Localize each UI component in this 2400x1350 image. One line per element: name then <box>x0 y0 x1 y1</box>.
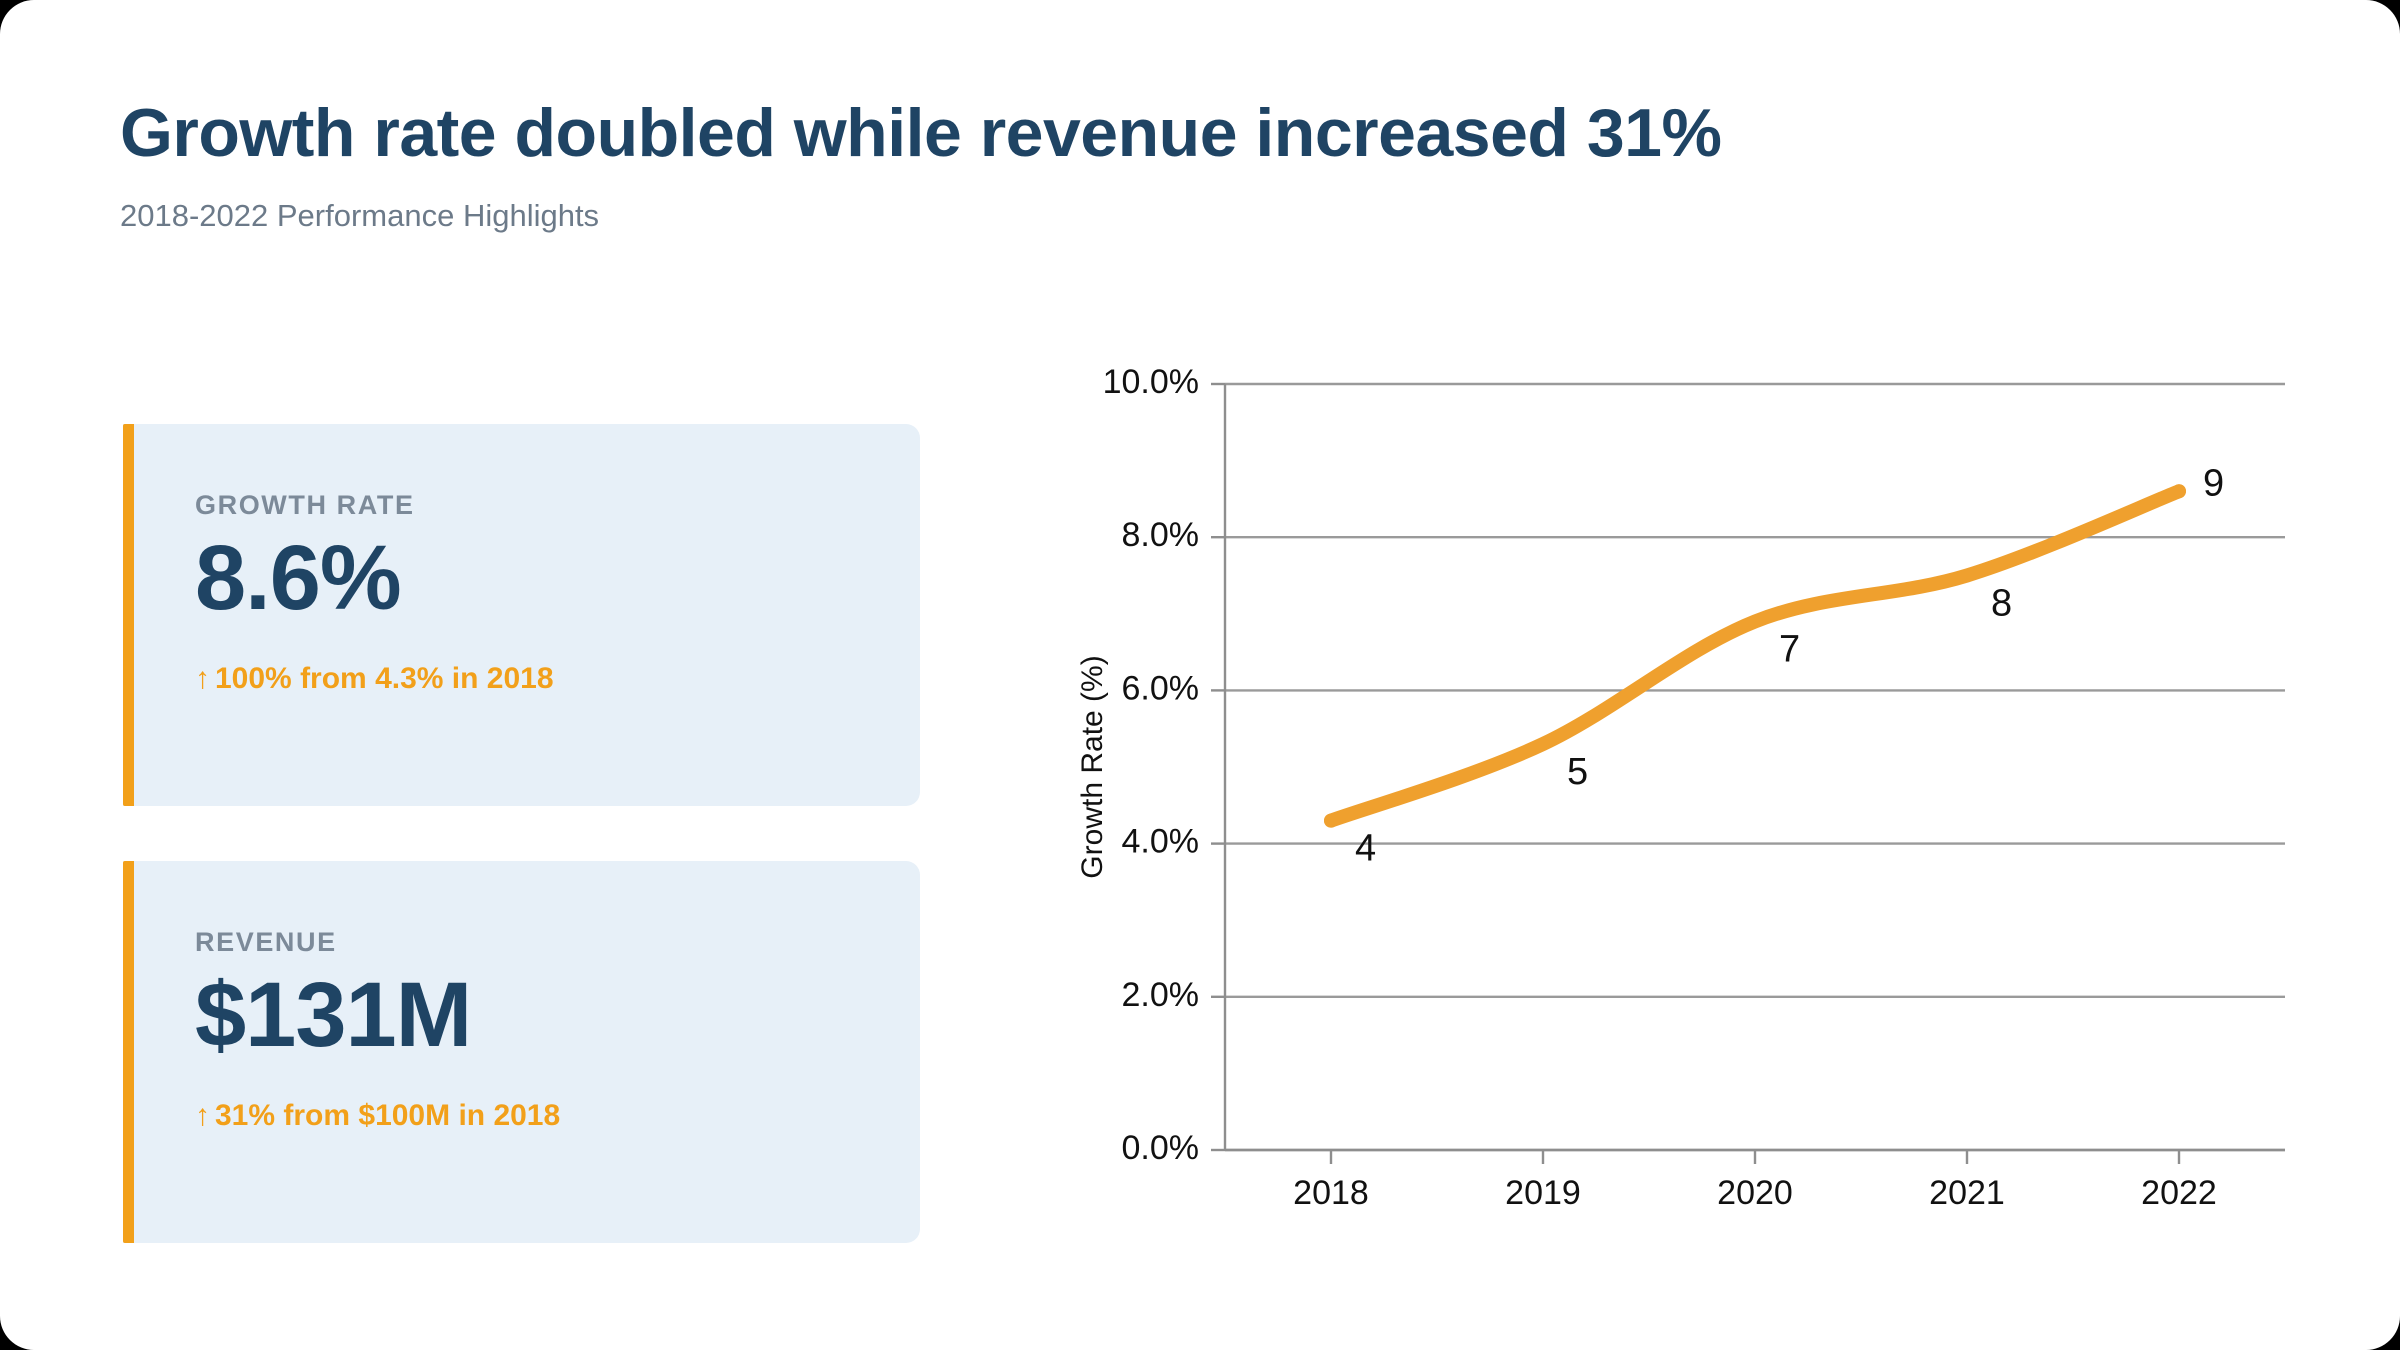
kpi-label: REVENUE <box>195 927 890 958</box>
y-tick-label: 2.0% <box>1122 976 1200 1014</box>
kpi-label: GROWTH RATE <box>195 490 890 521</box>
x-tick-label: 2022 <box>2141 1174 2217 1212</box>
kpi-delta-text: 100% from 4.3% in 2018 <box>215 662 554 695</box>
y-tick-label: 10.0% <box>1103 363 1199 401</box>
x-tick-label: 2019 <box>1505 1174 1581 1212</box>
kpi-value: 8.6% <box>195 527 890 630</box>
kpi-card-growth-rate: GROWTH RATE 8.6% ↑100% from 4.3% in 2018 <box>123 424 920 806</box>
kpi-value: $131M <box>195 964 890 1067</box>
data-point-marker <box>1324 814 1338 828</box>
kpi-card-revenue: REVENUE $131M ↑31% from $100M in 2018 <box>123 861 920 1243</box>
data-point-label: 4 <box>1355 828 1376 870</box>
kpi-card-list: GROWTH RATE 8.6% ↑100% from 4.3% in 2018… <box>123 424 920 1298</box>
arrow-up-icon: ↑ <box>195 1099 210 1132</box>
kpi-delta: ↑100% from 4.3% in 2018 <box>195 662 890 696</box>
kpi-delta-text: 31% from $100M in 2018 <box>215 1099 560 1132</box>
y-tick-label: 6.0% <box>1122 669 1200 707</box>
y-tick-label: 0.0% <box>1122 1129 1200 1167</box>
grid-lines <box>1225 384 2285 1150</box>
y-axis-ticks: 0.0%2.0%4.0%6.0%8.0%10.0% <box>1103 363 1225 1167</box>
x-tick-label: 2021 <box>1929 1174 2005 1212</box>
kpi-delta: ↑31% from $100M in 2018 <box>195 1099 890 1133</box>
kpi-card-body: REVENUE $131M ↑31% from $100M in 2018 <box>195 927 890 1133</box>
data-point-label: 5 <box>1567 751 1588 793</box>
y-axis-title: Growth Rate (%) <box>1076 655 1109 878</box>
growth-rate-line-chart: 0.0%2.0%4.0%6.0%8.0%10.0% 20182019202020… <box>1040 360 2320 1270</box>
page-subtitle: 2018-2022 Performance Highlights <box>120 197 2300 234</box>
y-tick-label: 8.0% <box>1122 516 1200 554</box>
x-tick-label: 2018 <box>1293 1174 1369 1212</box>
accent-bar <box>123 861 134 1243</box>
data-point-label: 8 <box>1991 583 2012 625</box>
data-point-label: 7 <box>1779 628 1800 670</box>
page-title: Growth rate doubled while revenue increa… <box>120 96 2300 171</box>
y-tick-label: 4.0% <box>1122 823 1200 861</box>
data-point-marker <box>2172 484 2186 498</box>
x-axis-ticks: 20182019202020212022 <box>1293 1150 2217 1212</box>
accent-bar <box>123 424 134 806</box>
slide-canvas: Growth rate doubled while revenue increa… <box>0 0 2400 1350</box>
chart-svg: 0.0%2.0%4.0%6.0%8.0%10.0% 20182019202020… <box>1040 360 2320 1270</box>
x-tick-label: 2020 <box>1717 1174 1793 1212</box>
header: Growth rate doubled while revenue increa… <box>120 96 2300 234</box>
arrow-up-icon: ↑ <box>195 662 210 695</box>
kpi-card-body: GROWTH RATE 8.6% ↑100% from 4.3% in 2018 <box>195 490 890 696</box>
series-line-growth-rate <box>1331 491 2179 820</box>
data-point-label: 9 <box>2203 462 2224 504</box>
